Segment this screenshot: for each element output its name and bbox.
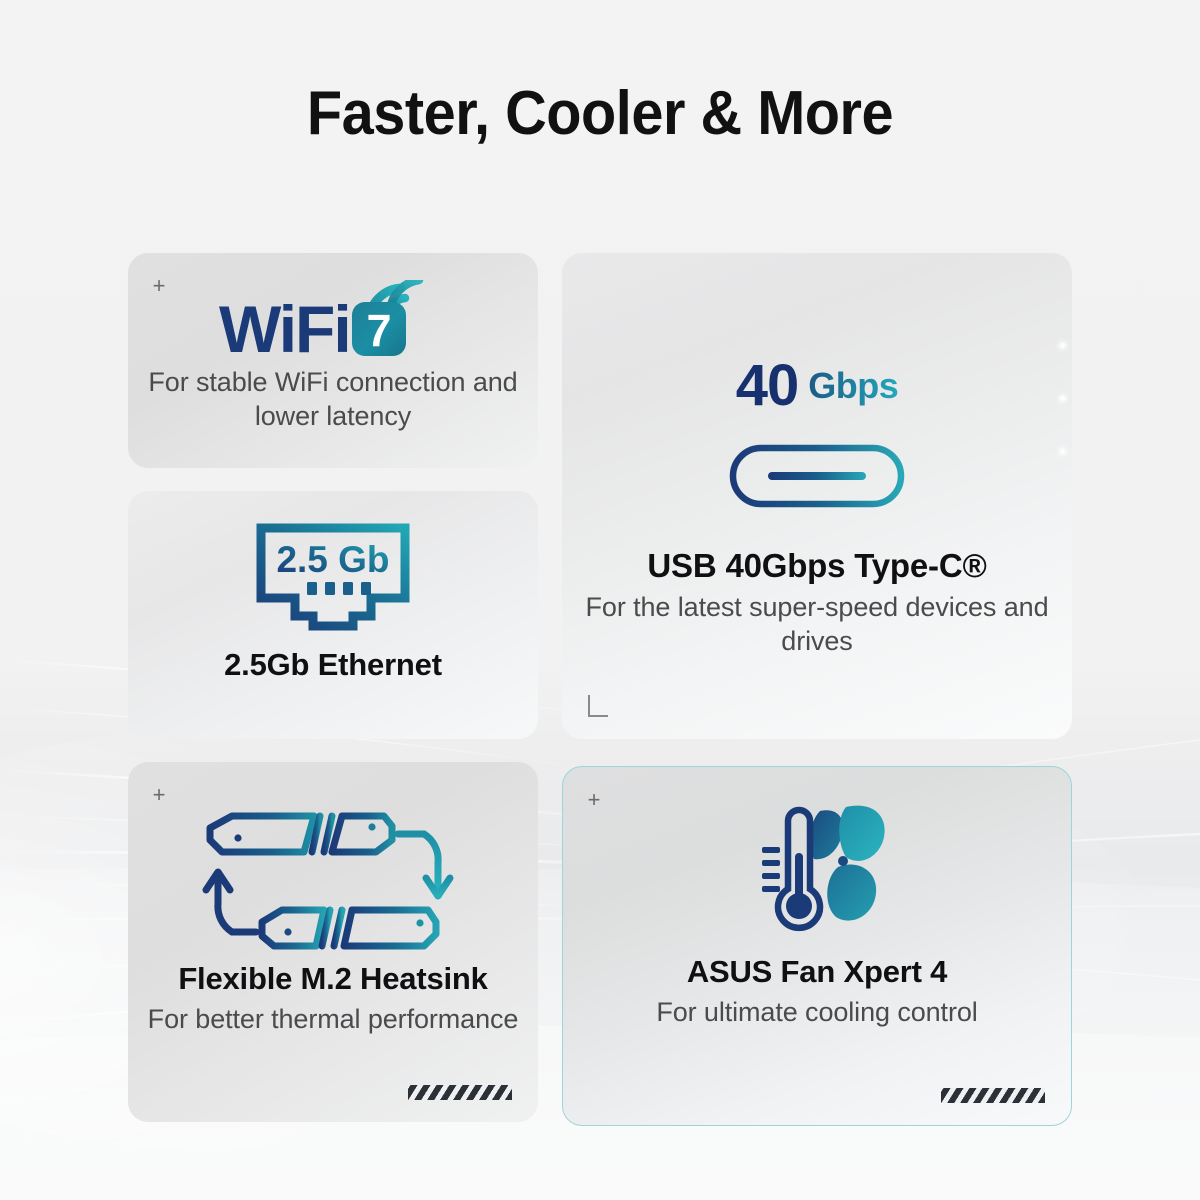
feature-card-m2-heatsink[interactable]: + [128,762,538,1122]
svg-text:WiFi: WiFi [219,292,350,366]
card-description: For the latest super-speed devices and d… [576,590,1058,658]
usb-speed-value: 40 [736,361,799,411]
usb-speed-unit: Gbps [808,361,898,411]
m2-heatsink-icon [128,802,538,962]
card-title: 2.5Gb Ethernet [142,646,524,684]
corner-bracket-mark [588,695,608,717]
feature-card-ethernet[interactable]: 2.5 Gb 2.5Gb Ethernet [128,491,538,739]
card-title: ASUS Fan Xpert 4 [577,953,1057,991]
card-title: USB 40Gbps Type-C® [576,546,1058,586]
page-title: Faster, Cooler & More [42,78,1158,150]
feature-card-grid: + [0,0,1200,1200]
thermometer-fan-icon [563,799,1071,939]
feature-card-wifi7[interactable]: + [128,253,538,468]
card-description: For stable WiFi connection and lower lat… [142,365,524,433]
hatch-stripe-mark [408,1085,512,1100]
usb-speed-label: 40 Gbps [562,361,1072,411]
svg-text:2.5 Gb: 2.5 Gb [276,539,389,580]
svg-text:7: 7 [366,305,391,356]
ethernet-port-icon: 2.5 Gb [128,519,538,639]
card-description: For better thermal performance [142,1002,524,1036]
hatch-stripe-mark [941,1088,1045,1103]
card-description: For ultimate cooling control [577,995,1057,1029]
feature-card-fan-xpert[interactable]: + [562,766,1072,1126]
usb-type-c-port-icon [562,441,1072,511]
card-title: Flexible M.2 Heatsink [142,960,524,998]
feature-card-usb-type-c[interactable]: 40 Gbps USB 40Gbps Type-C® For the lates… [562,253,1072,739]
wifi-7-logo: WiFi 7 [128,279,538,369]
